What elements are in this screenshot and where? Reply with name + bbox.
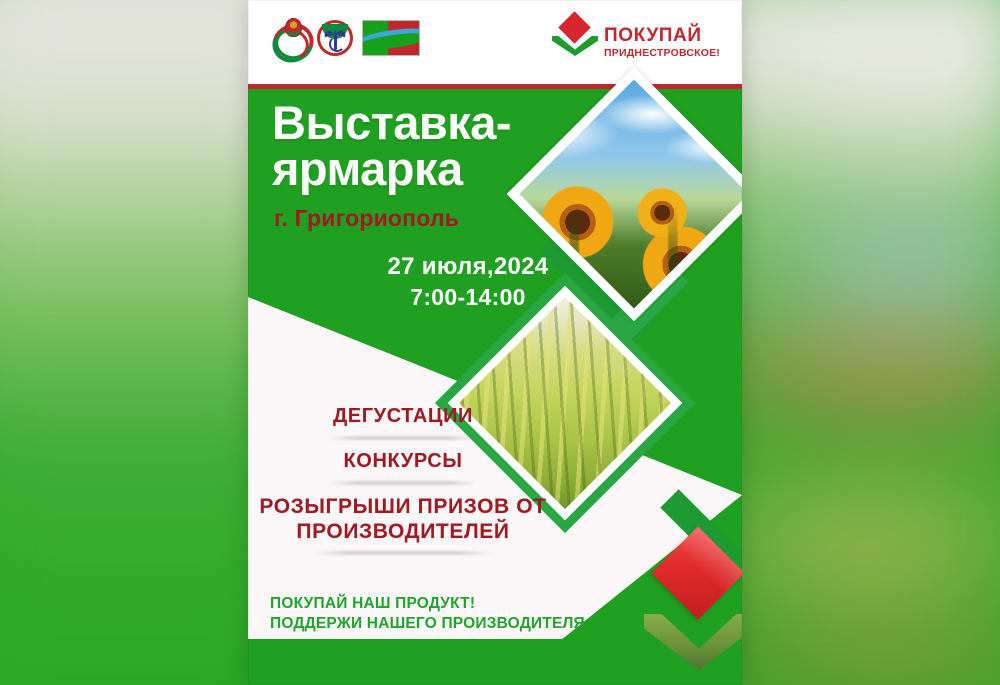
poster-slogan: ПОКУПАЙ НАШ ПРОДУКТ! ПОДДЕРЖИ НАШЕГО ПРО…: [270, 594, 585, 634]
activity-divider: [328, 436, 478, 440]
event-date: 27 июля,2024: [248, 253, 688, 281]
header-red-rule: [248, 84, 742, 89]
slogan-line-2: ПОДДЕРЖИ НАШЕГО ПРОИЗВОДИТЕЛЯ: [270, 614, 585, 634]
activity-item: ДЕГУСТАЦИИ: [248, 405, 558, 428]
brand-line-1: ПОКУПАЙ: [604, 26, 720, 45]
activities-list: ДЕГУСТАЦИИ КОНКУРСЫ РОЗЫГРЫШИ ПРИЗОВ ОТ …: [248, 405, 558, 565]
event-poster: ПОКУПАЙ ПРИДНЕСТРОВСКОЕ! Выставка-ярмарк…: [248, 0, 742, 685]
activity-item: РОЗЫГРЫШИ ПРИЗОВ ОТ ПРОИЗВОДИТЕЛЕЙ: [248, 495, 558, 545]
pmr-coat-of-arms-swirl-emblem-icon: [272, 18, 308, 58]
poster-city: г. Григориополь: [274, 205, 594, 232]
buy-pridnestrovian-large-logo-mark-icon: [644, 540, 742, 670]
brand-line-2: ПРИДНЕСТРОВСКОЕ!: [604, 48, 720, 59]
activity-divider: [328, 481, 478, 485]
activity-item: КОНКУРСЫ: [248, 450, 558, 473]
brand-lockup: ПОКУПАЙ ПРИДНЕСТРОВСКОЕ!: [552, 16, 720, 64]
buy-pridnestrovian-logo-icon: [552, 16, 598, 64]
poster-title: Выставка-ярмарка: [272, 100, 572, 192]
slogan-line-1: ПОКУПАЙ НАШ ПРОДУКТ!: [270, 594, 585, 614]
veterinary-caduceus-circle-emblem-icon: [317, 20, 353, 56]
emblem-group: [272, 18, 420, 58]
event-time: 7:00-14:00: [248, 284, 688, 311]
activity-divider: [313, 551, 493, 555]
pmr-flag-icon: [362, 20, 420, 56]
